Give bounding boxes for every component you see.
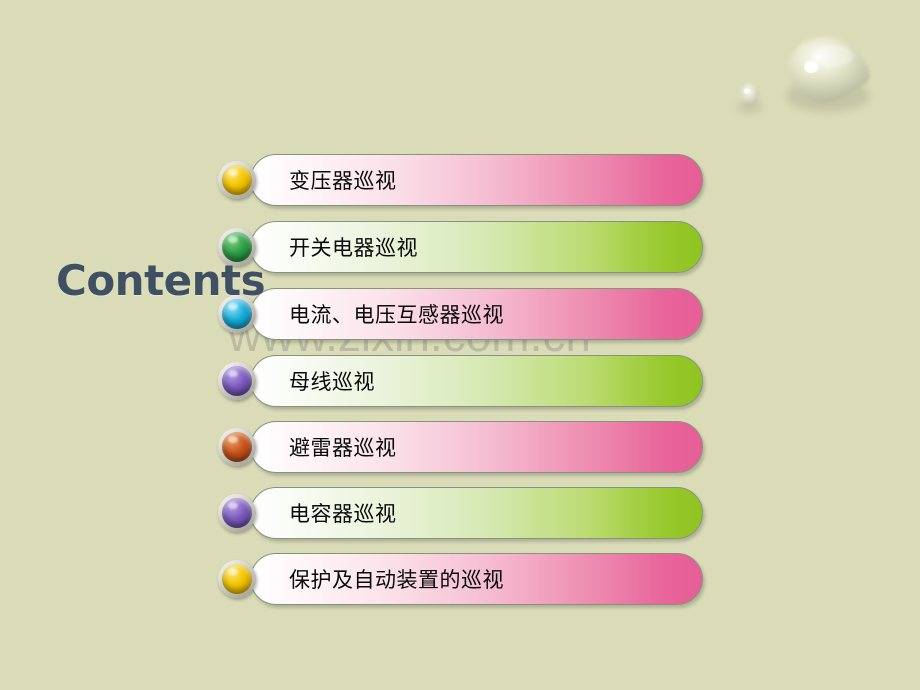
list-item[interactable]: 电容器巡视 [218, 485, 703, 541]
list-item[interactable]: 电流、电压互感器巡视 [218, 286, 703, 342]
list-item[interactable]: 母线巡视 [218, 353, 703, 409]
content-bar[interactable]: 电容器巡视 [250, 487, 703, 539]
sphere-highlight [228, 568, 238, 575]
list-item[interactable]: 保护及自动装置的巡视 [218, 551, 703, 607]
sphere-highlight [228, 370, 238, 377]
list-item[interactable]: 变压器巡视 [218, 152, 703, 208]
sphere-icon [222, 498, 252, 528]
list-item-label: 保护及自动装置的巡视 [289, 554, 504, 605]
list-item-label: 避雷器巡视 [289, 422, 397, 473]
bullet-marker-purple [218, 362, 256, 400]
sphere-highlight [228, 169, 238, 176]
bullet-marker-purple [218, 494, 256, 532]
content-bar[interactable]: 电流、电压互感器巡视 [250, 288, 703, 340]
sphere-icon [222, 432, 252, 462]
list-item-label: 开关电器巡视 [289, 222, 418, 273]
content-bar[interactable]: 保护及自动装置的巡视 [250, 553, 703, 605]
sphere-highlight [228, 436, 238, 443]
content-bar[interactable]: 母线巡视 [250, 355, 703, 407]
list-item[interactable]: 避雷器巡视 [218, 419, 703, 475]
list-item-label: 母线巡视 [289, 356, 375, 407]
sphere-icon [222, 366, 252, 396]
bullet-marker-gold [218, 161, 256, 199]
sphere-highlight [228, 236, 238, 243]
list-item-label: 电流、电压互感器巡视 [289, 289, 504, 340]
content-bar[interactable]: 避雷器巡视 [250, 421, 703, 473]
list-item-label: 变压器巡视 [289, 155, 397, 206]
list-item[interactable]: 开关电器巡视 [218, 219, 703, 275]
contents-list: 变压器巡视 开关电器巡视 电流、电压互感器巡视 母线巡视 [0, 0, 920, 690]
sphere-highlight [228, 502, 238, 509]
content-bar[interactable]: 开关电器巡视 [250, 221, 703, 273]
sphere-icon [222, 564, 252, 594]
bullet-marker-gold [218, 560, 256, 598]
slide-canvas: www.zixin.com.cn Contents 变压器巡视 开关电器巡视 电… [0, 0, 920, 690]
bullet-marker-brick [218, 428, 256, 466]
page-title: Contents [56, 256, 265, 305]
sphere-icon [222, 165, 252, 195]
content-bar[interactable]: 变压器巡视 [250, 154, 703, 206]
list-item-label: 电容器巡视 [289, 488, 397, 539]
